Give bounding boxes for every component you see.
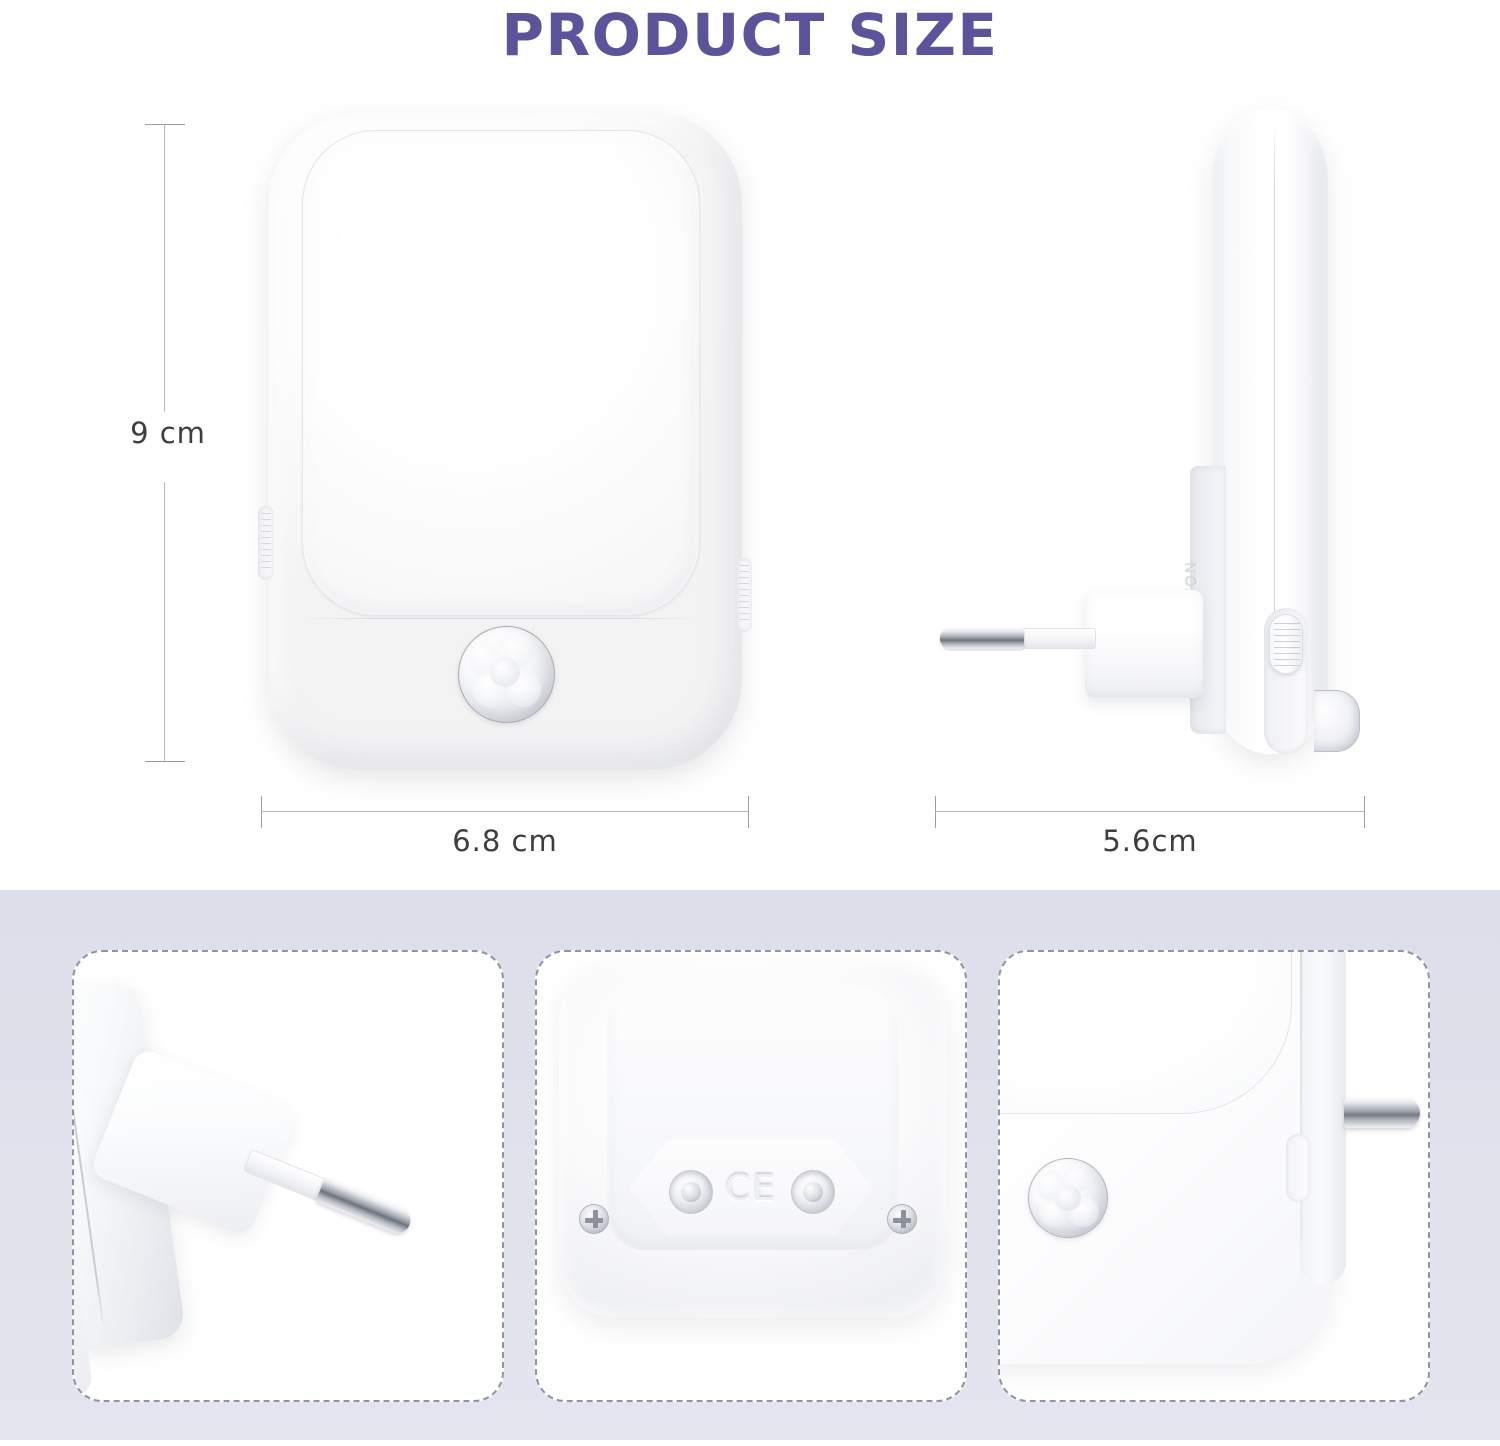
front-width-dimension-label: 6.8 cm: [261, 824, 749, 858]
detail-card-motion-sensor: [998, 950, 1430, 1402]
plug-pin-metal: [316, 1177, 415, 1237]
detail-gallery-section: AUTO/OFF/ON CE: [0, 890, 1500, 1440]
height-dimension: 9 cm: [118, 120, 218, 765]
side-button: [1286, 1134, 1310, 1202]
motion-sensor-bump: [1314, 690, 1360, 752]
slider-ribs: [1274, 623, 1300, 667]
light-diffuser-panel: [302, 130, 700, 616]
button-ribs: [739, 565, 749, 625]
front-view-product-image: [262, 106, 748, 776]
detail-card-plug-prong: AUTO/OFF/ON: [72, 950, 504, 1402]
sensor-lens-facet: [1055, 1185, 1081, 1211]
sensor-lens-facet: [490, 657, 520, 687]
side-button-right: [736, 558, 752, 632]
button-ribs: [261, 513, 271, 573]
plug-pin-socket-left: [669, 1170, 713, 1214]
housing-seam-line: [1300, 952, 1302, 1288]
light-diffuser-edge: [998, 950, 1292, 1114]
dimension-line: [935, 811, 1365, 812]
housing-seam-line: [304, 618, 698, 619]
motion-sensor-dome: [1028, 1158, 1108, 1238]
plug-pin-sleeve: [1018, 628, 1096, 649]
detail-card-row: AUTO/OFF/ON CE: [72, 950, 1430, 1402]
plug-housing: [1085, 590, 1203, 698]
screw-slot-horizontal: [893, 1218, 911, 1223]
plug-pin-socket-right: [791, 1170, 835, 1214]
bottom-white-strip: [0, 1440, 1500, 1446]
size-diagram-section: 9 cm: [0, 78, 1500, 890]
dimension-line-lower: [164, 482, 165, 761]
plug-pin-metal: [940, 628, 1024, 649]
screw-slot-horizontal: [585, 1218, 603, 1223]
page-title: PRODUCT SIZE: [0, 0, 1500, 78]
side-view-product-image: AUTO/OFF/ON: [918, 98, 1388, 778]
plug-pin-metal: [1344, 1098, 1420, 1128]
height-dimension-label: 9 cm: [114, 416, 222, 450]
mode-slider-knob: [1269, 614, 1303, 674]
dimension-line-upper: [164, 124, 165, 412]
dimension-cap-bottom: [145, 761, 185, 762]
dimension-cap-top: [145, 124, 185, 125]
plug-assembly: AUTO/OFF/ON: [72, 968, 504, 1402]
device-side-edge: [1300, 950, 1346, 1284]
ce-mark: CE: [719, 1168, 783, 1209]
motion-sensor-dome: [458, 626, 555, 723]
dimension-line: [261, 811, 749, 812]
product-size-infographic: PRODUCT SIZE 9 cm: [0, 0, 1500, 1446]
phillips-screw-right: [887, 1204, 917, 1234]
detail-card-rear-base: CE: [535, 950, 967, 1402]
side-button-left: [258, 506, 274, 580]
phillips-screw-left: [579, 1204, 609, 1234]
side-width-dimension-label: 5.6cm: [935, 824, 1365, 858]
